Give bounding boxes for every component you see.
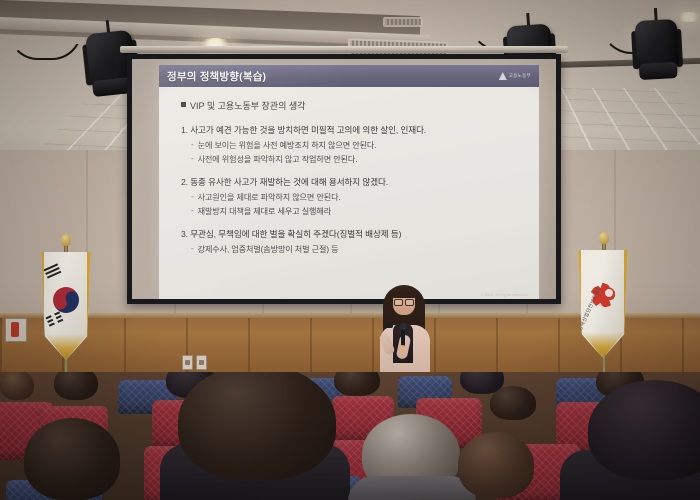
block-number-text: 2. 동종 유사한 사고가 재발하는 것에 대해 용서하지 않겠다. <box>181 176 523 188</box>
wall-outlet-1 <box>182 355 193 370</box>
fire-extinguisher-sign <box>5 318 27 342</box>
ceiling-light-far-right <box>676 12 700 22</box>
logo-text: 고용노동부 <box>509 73 531 79</box>
screen-surface: 정부의 정책방향(복습) 고용노동부 VIP 및 고용노동부 장관의 생각 1.… <box>132 59 556 299</box>
presenter-glasses-left <box>394 299 403 306</box>
slide-block-3: 3. 무관심, 무책임에 대한 벌을 확실히 주겠다(징벌적 배상제 등) - … <box>181 228 523 255</box>
block-number-text: 3. 무관심, 무책임에 대한 벌을 확실히 주겠다(징벌적 배상제 등) <box>181 228 523 240</box>
screen-roller-housing <box>120 46 568 53</box>
slide-title: 정부의 정책방향(복습) <box>167 69 266 84</box>
dash-marker: - <box>191 140 194 151</box>
audience-head-foreground <box>178 372 336 480</box>
block-number-text: 1. 사고가 예견 가능한 것을 방치하면 미필적 고의에 의한 살인, 인재다… <box>181 124 523 136</box>
block-sub-text: 사전에 위험성을 파악하지 않고 작업하면 안된다. <box>198 154 358 165</box>
slide-credit-text: © 2023. All rights reserved. <box>480 293 529 297</box>
dash-marker: - <box>191 206 194 217</box>
audience-head <box>458 432 534 498</box>
audience-shoulders <box>348 476 476 500</box>
presenter-remote-icon <box>385 323 393 328</box>
audience-head <box>334 372 380 396</box>
block-sub-item: - 눈에 보이는 위험을 사전 예방조치 하지 않으면 안된다. <box>191 140 523 151</box>
slide-block-1: 1. 사고가 예견 가능한 것을 방치하면 미필적 고의에 의한 살인, 인재다… <box>181 124 523 165</box>
flag-finial <box>599 232 609 244</box>
presenter-glasses-right <box>405 299 414 306</box>
audience-head <box>54 372 98 400</box>
dash-marker: - <box>191 192 194 203</box>
slide-heading-text: VIP 및 고용노동부 장관의 생각 <box>190 99 305 112</box>
block-sub-text: 사고원인을 제대로 파악하지 않으면 안된다. <box>198 192 341 203</box>
dash-marker: - <box>191 154 194 165</box>
block-sub-text: 눈에 보이는 위험을 사전 예방조치 하지 않으면 안된다. <box>198 140 377 151</box>
block-sub-item: - 사전에 위험성을 파악하지 않고 작업하면 안된다. <box>191 154 523 165</box>
block-sub-item: - 재발방지 대책을 제대로 세우고 실행해라 <box>191 206 523 217</box>
flag-finial <box>61 234 71 246</box>
presenter-hand <box>398 345 407 354</box>
slide-header-band: 정부의 정책방향(복습) 고용노동부 <box>159 65 539 87</box>
slide-heading: VIP 및 고용노동부 장관의 생각 <box>181 99 523 112</box>
wall-outlet-2 <box>196 355 207 370</box>
block-sub-item: - 사고원인을 제대로 파악하지 않으면 안된다. <box>191 192 523 203</box>
block-sub-item: - 강제수사, 엄중처벌(솜방망이 처벌 근절) 등 <box>191 244 523 255</box>
projection-screen: 정부의 정책방향(복습) 고용노동부 VIP 및 고용노동부 장관의 생각 1.… <box>127 54 561 304</box>
slide-block-2: 2. 동종 유사한 사고가 재발하는 것에 대해 용서하지 않겠다. - 사고원… <box>181 176 523 217</box>
dash-marker: - <box>191 244 194 255</box>
block-sub-text: 강제수사, 엄중처벌(솜방망이 처벌 근절) 등 <box>198 244 339 255</box>
air-vent-small <box>383 17 423 27</box>
audience-head <box>490 386 536 420</box>
flag-cloth <box>38 252 94 360</box>
slide-body: VIP 및 고용노동부 장관의 생각 1. 사고가 예견 가능한 것을 방치하면… <box>159 87 539 299</box>
light-cable-left <box>8 30 82 60</box>
presenter-bangs <box>391 286 417 298</box>
logo-mark-icon <box>499 72 507 80</box>
audience-head-foreground <box>24 418 120 500</box>
square-bullet-icon <box>181 102 186 107</box>
audience-head <box>0 372 34 400</box>
stage-spotlight-3 <box>635 19 680 75</box>
block-sub-text: 재발방지 대책을 제대로 세우고 실행해라 <box>198 206 331 217</box>
ministry-logo: 고용노동부 <box>499 72 531 80</box>
audience-seating-area <box>0 372 700 500</box>
lecture-hall-photo: 정부의 정책방향(복습) 고용노동부 VIP 및 고용노동부 장관의 생각 1.… <box>0 0 700 500</box>
flag-cloth: 한국산업안전보건공단 <box>575 250 631 358</box>
projected-slide: 정부의 정책방향(복습) 고용노동부 VIP 및 고용노동부 장관의 생각 1.… <box>159 65 539 299</box>
